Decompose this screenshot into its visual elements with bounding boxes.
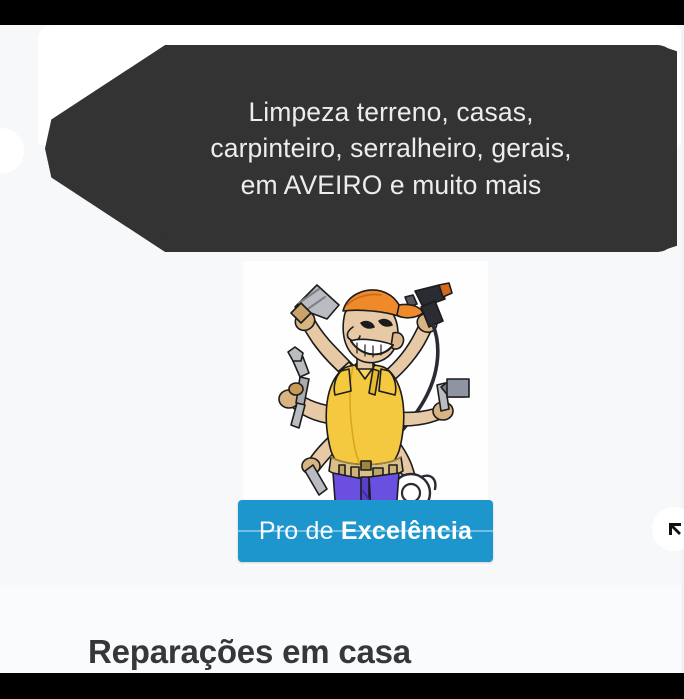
tooltip-callout-body (165, 45, 677, 252)
badge-scanline (238, 530, 493, 532)
screenshot-root: Limpeza terreno, casas, carpinteiro, ser… (0, 0, 684, 699)
status-bar-bottom (0, 673, 684, 699)
page-title: Reparações em casa (88, 633, 411, 671)
status-bar-top (0, 0, 684, 25)
arrow-up-left-icon[interactable] (668, 522, 684, 538)
page-canvas: Limpeza terreno, casas, carpinteiro, ser… (0, 25, 684, 673)
left-circle-indicator (0, 128, 24, 174)
